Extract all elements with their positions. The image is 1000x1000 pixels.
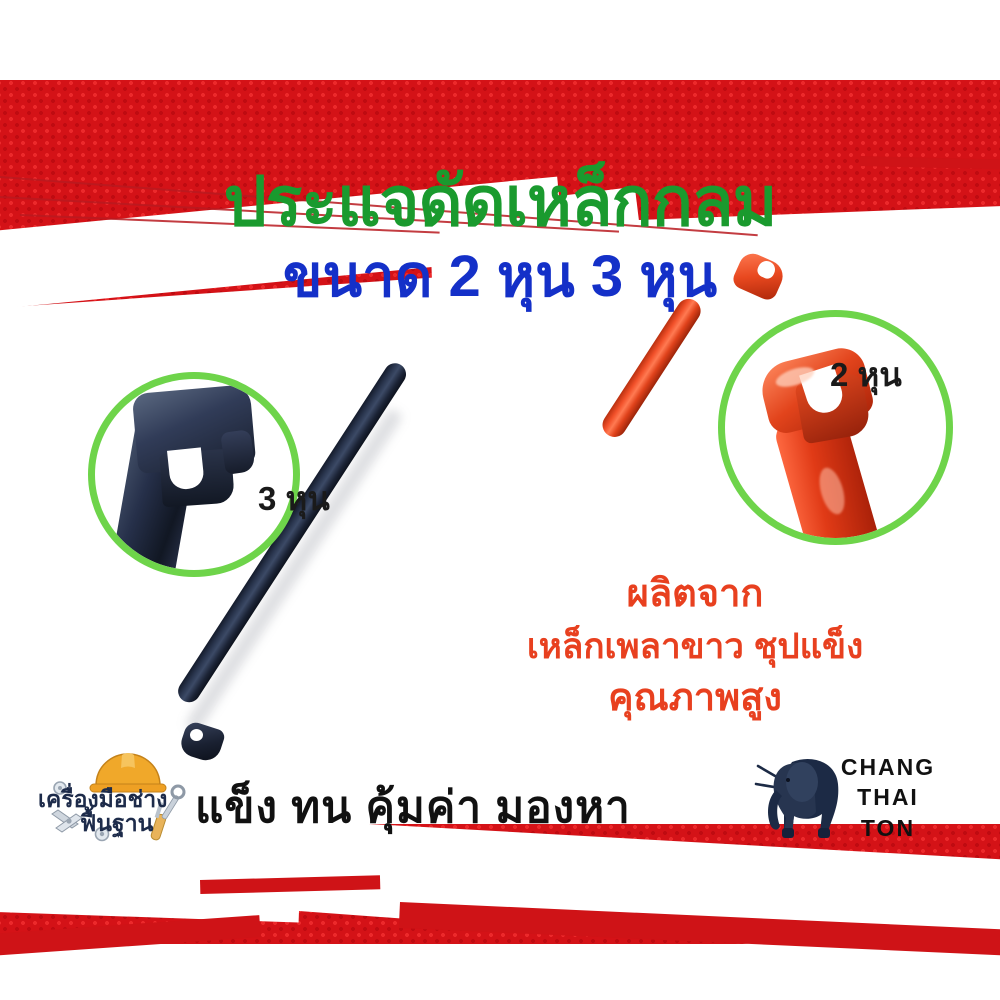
tool-hook-notch-navy xyxy=(190,729,203,741)
callout-ring-right xyxy=(718,310,953,545)
feature-copy-line-2: เหล็กเพลาขาว ชุปแข็ง xyxy=(505,622,885,672)
advertisement-poster: ประแจดัดเหล็กกลม ขนาด 2 หุน 3 หุน 3 หุน xyxy=(0,0,1000,1000)
tools-logo-line-2: ฟื้นฐาน xyxy=(80,806,153,842)
tagline: แข็ง ทน คุ้มค่า มองหา xyxy=(195,772,631,842)
brand-logo-line-1: CHANG xyxy=(836,752,940,782)
tools-shop-logo: เครื่องมือช่าง ฟื้นฐาน xyxy=(38,742,218,852)
brand-logo: CHANG THAI TON xyxy=(752,740,942,848)
brand-logo-line-3: TON xyxy=(836,813,940,843)
tool-hook-head-red xyxy=(730,249,787,302)
feature-copy-block: ผลิตจาก เหล็กเพลาขาว ชุปแข็ง คุณภาพสูง xyxy=(505,568,885,726)
callout-label-right: 2 หุน xyxy=(830,348,902,401)
page-title: ประแจดัดเหล็กกลม xyxy=(0,168,1000,236)
feature-copy-line-1: ผลิตจาก xyxy=(505,568,885,622)
feature-copy-line-3: คุณภาพสูง xyxy=(505,672,885,726)
elephant-icon xyxy=(752,740,848,844)
tool-shaft-red xyxy=(598,294,705,441)
brand-logo-text: CHANG THAI TON xyxy=(836,752,940,843)
brand-logo-line-2: THAI xyxy=(836,782,940,812)
poster-content: ประแจดัดเหล็กกลม ขนาด 2 หุน 3 หุน 3 หุน xyxy=(0,0,1000,1000)
callout-label-left: 3 หุน xyxy=(258,472,330,525)
